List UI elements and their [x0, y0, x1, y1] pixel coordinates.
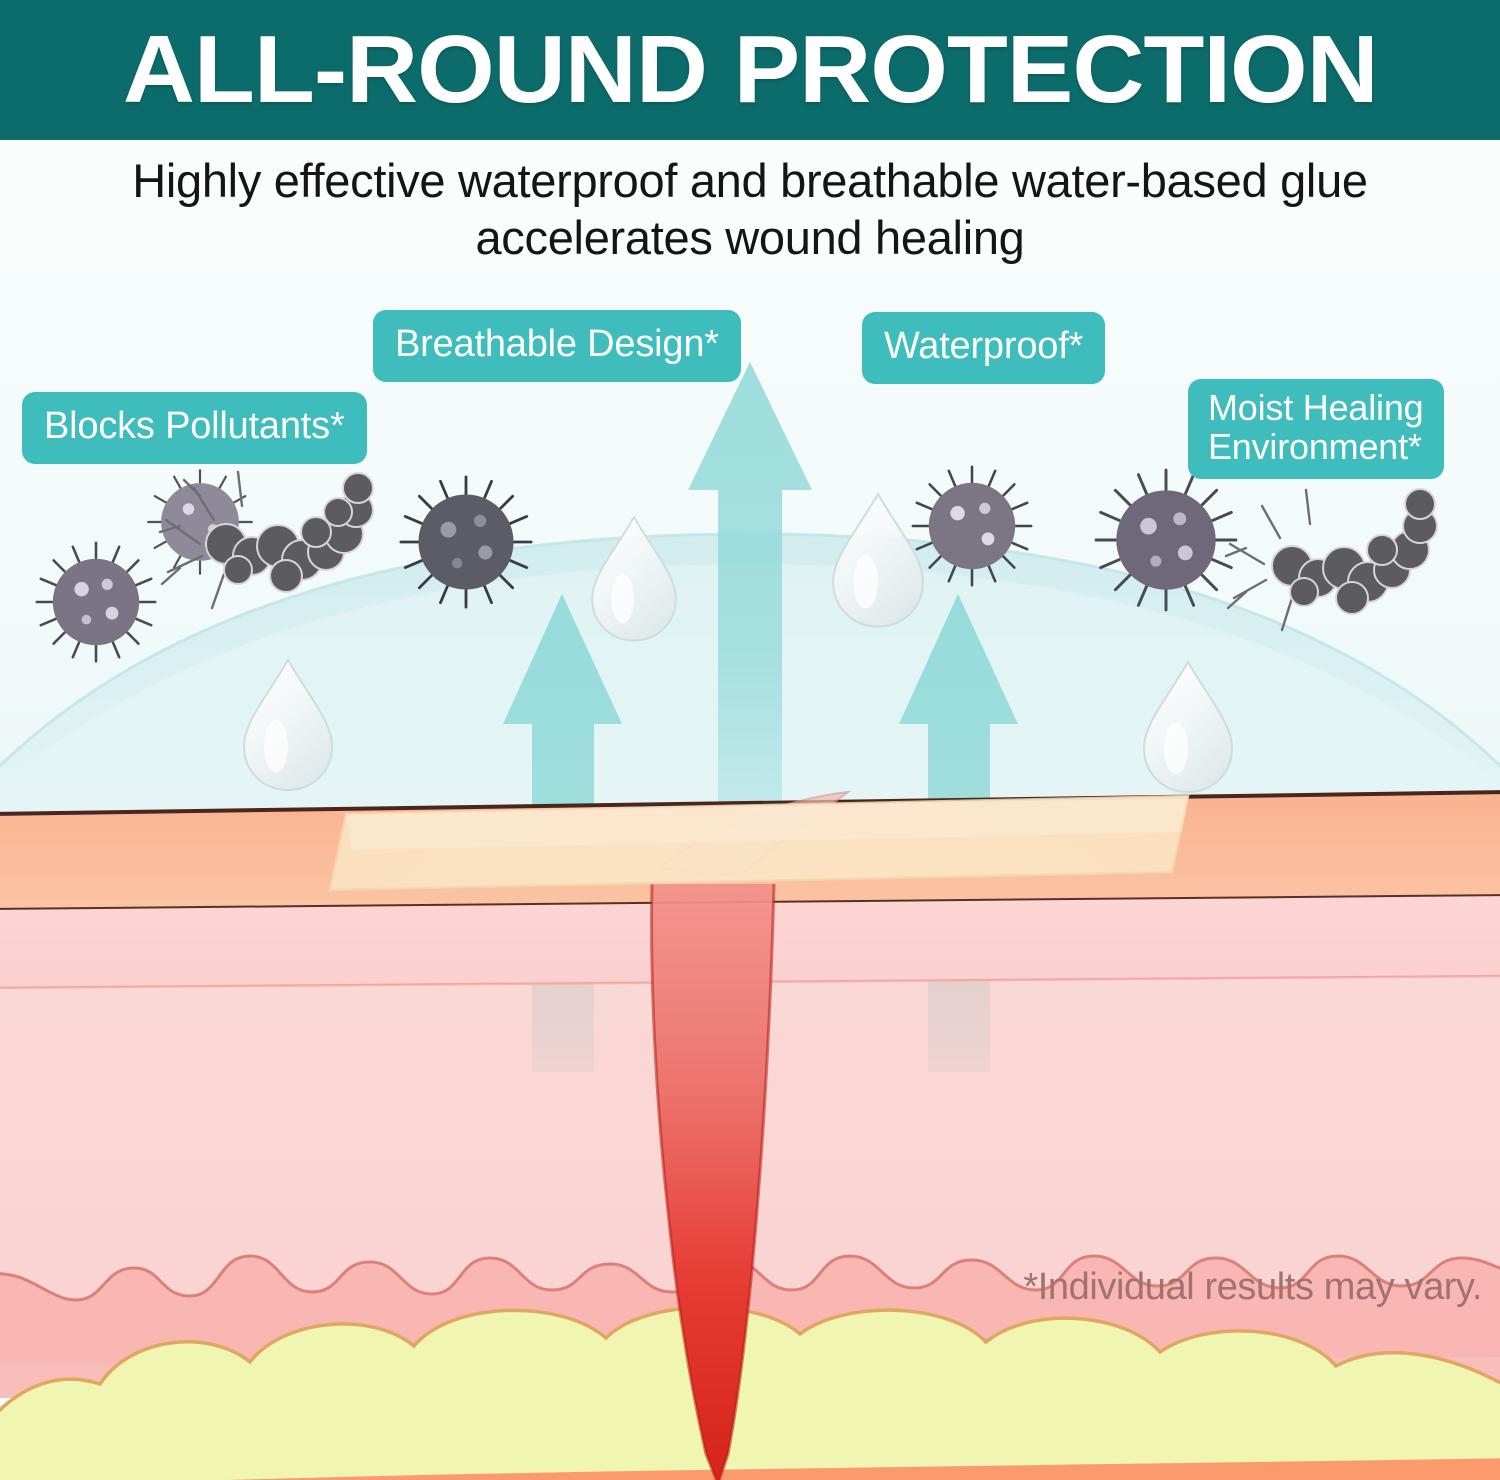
infographic-page: ALL-ROUND PROTECTION Highly effective wa… — [0, 0, 1500, 1480]
page-title: ALL-ROUND PROTECTION — [123, 22, 1378, 118]
subtitle-text: Highly effective waterproof and breathab… — [40, 152, 1460, 267]
badge-breathable-design: Breathable Design* — [373, 310, 741, 382]
badge-moist-healing-environment: Moist Healing Environment* — [1188, 379, 1444, 479]
virus-particle — [1096, 470, 1236, 610]
header-banner: ALL-ROUND PROTECTION — [0, 0, 1500, 140]
virus-particle — [401, 477, 531, 607]
badge-blocks-pollutants: Blocks Pollutants* — [22, 392, 367, 464]
disclaimer-text: *Individual results may vary. — [1023, 1266, 1482, 1309]
badge-waterproof: Waterproof* — [862, 312, 1105, 384]
virus-particle — [913, 467, 1031, 585]
virus-particle — [37, 543, 155, 661]
